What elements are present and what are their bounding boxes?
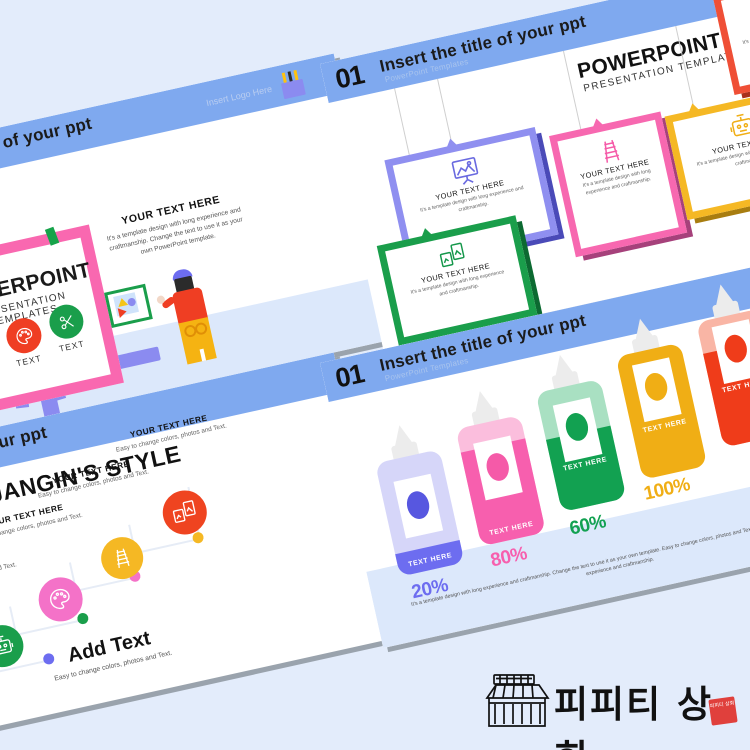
paint-palette-icon: [12, 324, 36, 348]
robot-icon: [726, 109, 750, 142]
hanging-frame-red-heading: YOUR TEXT HERE: [728, 4, 750, 41]
canvas-tape-right: [45, 227, 59, 246]
robot-icon: [0, 632, 17, 661]
node-dot-yellow: [191, 531, 204, 544]
storefront-icon: [482, 672, 552, 730]
canvas-circle-label-1: TEXT: [0, 365, 6, 383]
canvas-circle-label-3: TEXT: [51, 337, 92, 355]
node-text-pink: YOUR TEXT HERE Easy to change colors, ph…: [0, 498, 88, 546]
brand-name: 피피티 상회: [554, 674, 732, 750]
composition-stage: Insert the title of your ppt PowerPoint …: [0, 0, 750, 750]
node-body-green: Easy to change colors, photos and Text.: [0, 559, 25, 596]
hanging-frame-pink: YOUR TEXT HERE It's a template design wi…: [549, 111, 687, 257]
wall-frame-green: [104, 284, 153, 328]
brand-stamp-text: 피피티 상회: [710, 700, 735, 709]
slide1-text-block-right: YOUR TEXT HERE It's a template design wi…: [96, 188, 253, 266]
brand-stamp: 피피티 상회: [708, 696, 737, 725]
canvas-circle-label-2: TEXT: [8, 351, 49, 369]
two-frames-icon: [169, 497, 199, 527]
connector-4: [134, 538, 199, 554]
connector-3: [75, 577, 136, 592]
scissors-glue-icon: [55, 310, 78, 333]
node-dot-green: [76, 612, 89, 625]
node-circle-green: [0, 621, 27, 671]
connector-2: [15, 619, 82, 636]
brand-logo: 피피티 상회 피피티 상회: [482, 672, 732, 734]
paint-palette-icon: [45, 584, 75, 614]
node-circle-red: [159, 486, 211, 538]
bottle-purple: TEXT HERE: [368, 416, 472, 577]
ladder-icon: [108, 544, 137, 573]
node-text-green: YOUR TEXT HERE Easy to change colors, ph…: [0, 547, 25, 596]
slide3-center-block: Add Text Easy to change colors, photos a…: [43, 622, 178, 686]
